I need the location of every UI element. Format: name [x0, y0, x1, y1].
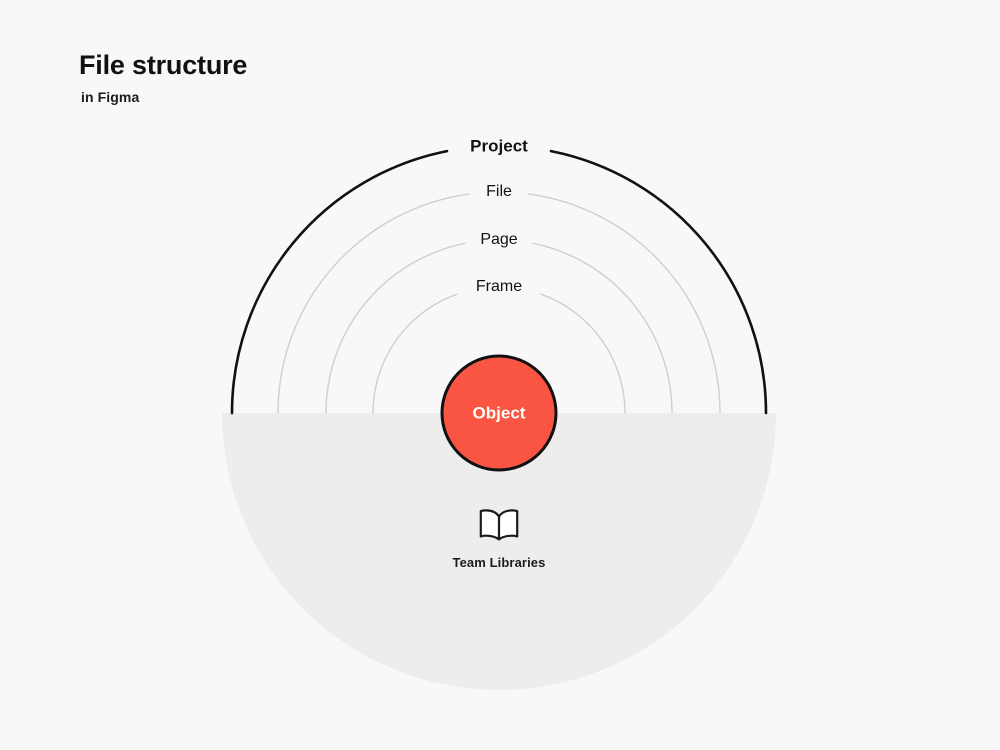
concentric-rings-diagram	[0, 0, 1000, 750]
ring-label-frame: Frame	[476, 279, 522, 295]
ring-label-project: Project	[470, 138, 528, 155]
open-book-icon	[477, 508, 521, 542]
ring-label-page: Page	[480, 232, 517, 248]
object-node-label: Object	[473, 405, 526, 422]
team-libraries-label: Team Libraries	[389, 556, 609, 569]
diagram-canvas: File structure in Figma Project File Pag…	[0, 0, 1000, 750]
team-libraries-block[interactable]: Team Libraries	[389, 508, 609, 569]
ring-label-file: File	[486, 184, 512, 200]
